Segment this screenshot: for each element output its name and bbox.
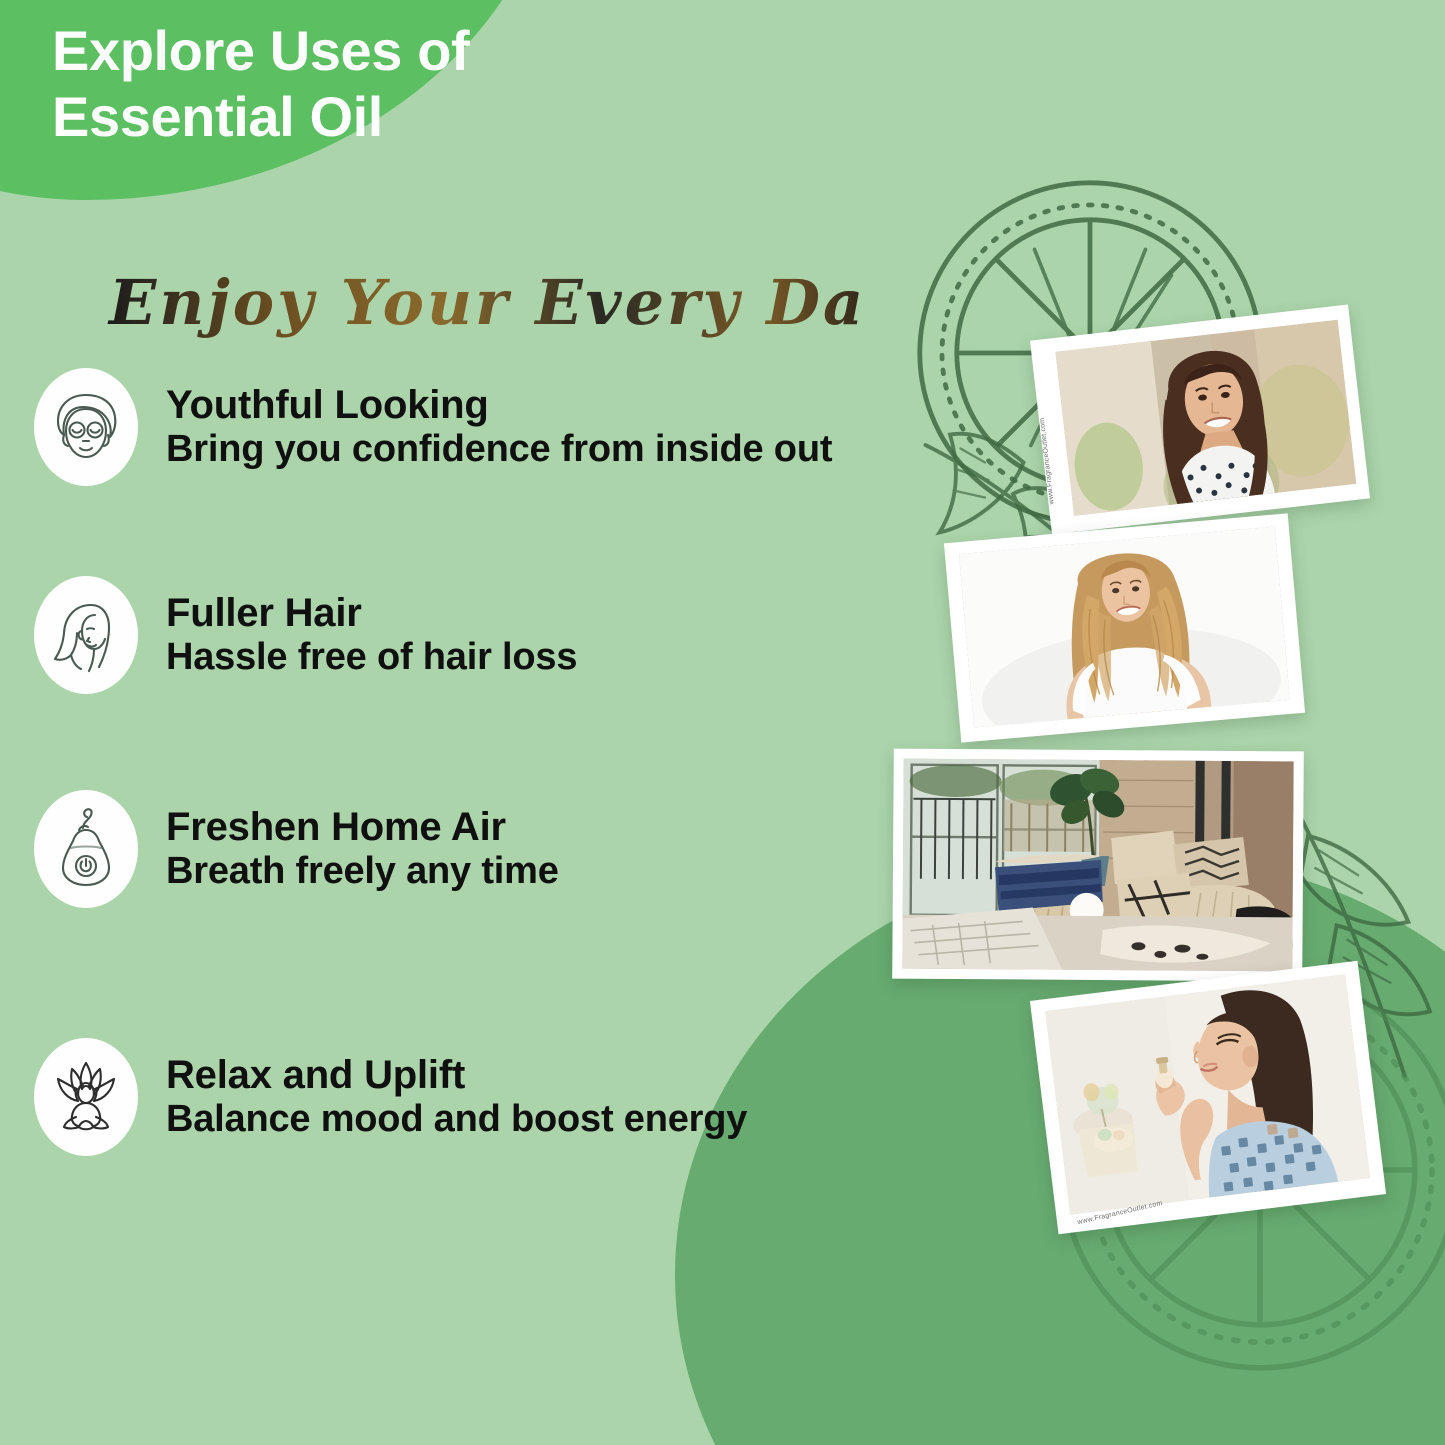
photo-living-room (892, 749, 1304, 982)
photo-image (902, 759, 1293, 972)
face-mask-icon (50, 389, 122, 465)
aroma-diffuser-icon (53, 808, 119, 890)
feature-row-freshen-home-air[interactable]: Freshen Home Air Breath freely any time (34, 790, 559, 908)
feature-text-group: Fuller Hair Hassle free of hair loss (166, 591, 577, 678)
feature-row-youthful-looking[interactable]: Youthful Looking Bring you confidence fr… (34, 368, 832, 486)
feature-icon-badge (34, 790, 138, 908)
page-title: Explore Uses of Essential Oil (52, 18, 692, 149)
feature-title: Youthful Looking (166, 383, 832, 428)
long-hair-woman-icon (51, 597, 121, 673)
feature-row-fuller-hair[interactable]: Fuller Hair Hassle free of hair loss (34, 576, 577, 694)
feature-icon-badge (34, 1038, 138, 1156)
photo-image (959, 527, 1290, 728)
feature-text-group: Freshen Home Air Breath freely any time (166, 805, 559, 892)
photo-smiling-woman: www.FragranceOutlet.com (1030, 305, 1370, 535)
feature-title: Relax and Uplift (166, 1053, 747, 1098)
feature-icon-badge (34, 576, 138, 694)
tagline-script: Enjoy Your Every Day (105, 252, 865, 352)
feature-subtitle: Breath freely any time (166, 850, 559, 893)
feature-subtitle: Bring you confidence from inside out (166, 428, 832, 471)
photo-image (1045, 974, 1370, 1214)
photo-long-wavy-hair (944, 513, 1305, 742)
photo-image (1055, 320, 1356, 516)
photo-perfume-application: www.FragranceOutlet.com (1030, 961, 1386, 1234)
feature-row-relax-and-uplift[interactable]: Relax and Uplift Balance mood and boost … (34, 1038, 747, 1156)
feature-subtitle: Balance mood and boost energy (166, 1098, 747, 1141)
svg-text:Enjoy Your Every Day: Enjoy Your Every Day (107, 266, 865, 339)
infographic-canvas: Explore Uses of Essential Oil Enjoy Your… (0, 0, 1445, 1445)
feature-title: Fuller Hair (166, 591, 577, 636)
feature-text-group: Relax and Uplift Balance mood and boost … (166, 1053, 747, 1140)
feature-title: Freshen Home Air (166, 805, 559, 850)
feature-icon-badge (34, 368, 138, 486)
feature-subtitle: Hassle free of hair loss (166, 636, 577, 679)
feature-text-group: Youthful Looking Bring you confidence fr… (166, 383, 832, 470)
lotus-meditation-icon (46, 1059, 126, 1135)
